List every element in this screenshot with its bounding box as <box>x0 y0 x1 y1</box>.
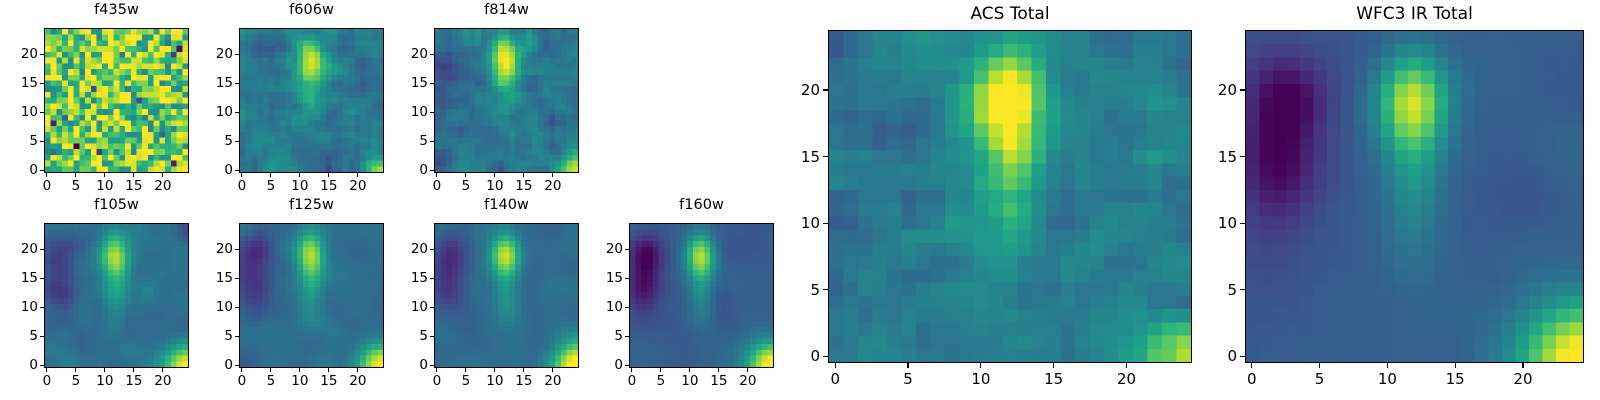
y-tick-label: 20 <box>21 46 38 62</box>
x-tick-mark <box>357 368 358 372</box>
heatmap-wfc3-ir-total <box>1245 30 1584 363</box>
panel-title-f606w: f606w <box>239 2 384 18</box>
y-tick-mark <box>823 289 828 290</box>
y-tick-label: 10 <box>411 299 428 315</box>
x-tick-label: 5 <box>1315 370 1325 388</box>
y-tick-mark <box>40 54 44 55</box>
y-tick-mark <box>625 278 629 279</box>
x-tick-mark <box>133 368 134 372</box>
x-tick-mark <box>747 368 748 372</box>
x-tick-label: 10 <box>486 178 503 194</box>
y-tick-mark <box>235 83 239 84</box>
y-tick-label: 5 <box>1227 281 1237 299</box>
panel-f606w: f606w0510152005101520 <box>199 2 384 199</box>
y-tick-mark <box>430 249 434 250</box>
y-tick-label: 5 <box>419 328 428 344</box>
y-tick-label: 0 <box>29 357 38 373</box>
x-tick-label: 10 <box>1378 370 1397 388</box>
y-tick-mark <box>235 170 239 171</box>
x-tick-mark <box>907 363 908 368</box>
heatmap-f105w <box>44 223 189 368</box>
y-tick-mark <box>430 112 434 113</box>
panel-title-f140w: f140w <box>434 197 579 213</box>
y-tick-mark <box>625 307 629 308</box>
x-tick-mark <box>299 368 300 372</box>
y-tick-mark <box>235 307 239 308</box>
y-tick-mark <box>40 83 44 84</box>
x-tick-label: 5 <box>657 373 666 389</box>
x-tick-label: 15 <box>125 373 142 389</box>
heatmap-canvas-f606w <box>240 29 383 172</box>
heatmap-f814w <box>434 28 579 173</box>
x-tick-mark <box>980 363 981 368</box>
y-tick-label: 0 <box>29 162 38 178</box>
heatmap-canvas-f105w <box>45 224 188 367</box>
x-tick-label: 0 <box>1247 370 1257 388</box>
y-tick-label: 15 <box>216 75 233 91</box>
panel-f435w: f435w0510152005101520 <box>4 2 189 199</box>
y-tick-mark <box>235 365 239 366</box>
x-tick-mark <box>1126 363 1127 368</box>
x-tick-mark <box>835 363 836 368</box>
x-tick-mark <box>46 368 47 372</box>
x-tick-label: 20 <box>544 178 561 194</box>
heatmap-canvas-f140w <box>435 224 578 367</box>
panel-f814w: f814w0510152005101520 <box>394 2 579 199</box>
y-tick-mark <box>40 307 44 308</box>
y-tick-label: 10 <box>801 214 820 232</box>
x-tick-label: 5 <box>72 373 81 389</box>
y-tick-mark <box>40 336 44 337</box>
x-tick-label: 0 <box>433 178 442 194</box>
x-tick-label: 20 <box>154 178 171 194</box>
panel-f125w: f125w0510152005101520 <box>199 197 384 394</box>
y-tick-label: 5 <box>224 133 233 149</box>
x-tick-mark <box>1455 363 1456 368</box>
y-tick-mark <box>235 249 239 250</box>
x-tick-label: 10 <box>291 178 308 194</box>
x-tick-mark <box>1387 363 1388 368</box>
y-tick-mark <box>430 141 434 142</box>
y-tick-label: 0 <box>1227 347 1237 365</box>
heatmap-canvas-f125w <box>240 224 383 367</box>
panel-title-f435w: f435w <box>44 2 189 18</box>
y-tick-label: 5 <box>419 133 428 149</box>
panel-title-wfc3-ir-total: WFC3 IR Total <box>1245 4 1584 24</box>
heatmap-canvas-f814w <box>435 29 578 172</box>
panel-title-f105w: f105w <box>44 197 189 213</box>
y-tick-mark <box>823 223 828 224</box>
x-tick-label: 0 <box>830 370 840 388</box>
y-tick-mark <box>1240 289 1245 290</box>
x-tick-mark <box>162 368 163 372</box>
y-tick-label: 20 <box>411 241 428 257</box>
y-tick-mark <box>235 278 239 279</box>
panel-f105w: f105w0510152005101520 <box>4 197 189 394</box>
y-tick-label: 15 <box>1218 148 1237 166</box>
x-tick-mark <box>133 173 134 177</box>
heatmap-canvas-f160w <box>630 224 773 367</box>
x-tick-label: 20 <box>1513 370 1532 388</box>
figure-canvas: f435w0510152005101520f606w05101520051015… <box>0 0 1600 400</box>
heatmap-canvas-f435w <box>45 29 188 172</box>
x-tick-label: 10 <box>96 178 113 194</box>
panel-title-f160w: f160w <box>629 197 774 213</box>
heatmap-f160w <box>629 223 774 368</box>
x-tick-mark <box>494 173 495 177</box>
panel-wfc3-ir-total: WFC3 IR Total0510152005101520 <box>1205 4 1584 389</box>
y-tick-label: 20 <box>216 46 233 62</box>
y-tick-mark <box>430 83 434 84</box>
y-tick-label: 15 <box>216 270 233 286</box>
x-tick-label: 20 <box>739 373 756 389</box>
x-tick-label: 15 <box>1044 370 1063 388</box>
y-tick-mark <box>1240 223 1245 224</box>
x-tick-mark <box>104 368 105 372</box>
x-tick-mark <box>494 368 495 372</box>
x-tick-label: 20 <box>544 373 561 389</box>
y-tick-label: 15 <box>801 148 820 166</box>
y-tick-label: 5 <box>29 328 38 344</box>
x-tick-label: 20 <box>349 373 366 389</box>
heatmap-f140w <box>434 223 579 368</box>
x-tick-label: 10 <box>971 370 990 388</box>
y-tick-mark <box>430 336 434 337</box>
heatmap-canvas-wfc3-ir-total <box>1246 31 1583 362</box>
y-tick-label: 5 <box>29 133 38 149</box>
x-tick-mark <box>465 368 466 372</box>
x-tick-mark <box>270 173 271 177</box>
y-tick-mark <box>40 112 44 113</box>
x-tick-label: 15 <box>320 373 337 389</box>
y-tick-label: 0 <box>224 162 233 178</box>
y-tick-mark <box>235 54 239 55</box>
x-tick-mark <box>328 368 329 372</box>
heatmap-f125w <box>239 223 384 368</box>
y-tick-mark <box>625 249 629 250</box>
y-tick-label: 15 <box>606 270 623 286</box>
y-tick-label: 5 <box>224 328 233 344</box>
y-tick-mark <box>823 89 828 90</box>
x-tick-mark <box>465 173 466 177</box>
heatmap-f435w <box>44 28 189 173</box>
panel-title-f814w: f814w <box>434 2 579 18</box>
y-tick-mark <box>40 141 44 142</box>
panel-title-acs-total: ACS Total <box>828 4 1192 24</box>
y-tick-mark <box>40 170 44 171</box>
x-tick-label: 20 <box>154 373 171 389</box>
y-tick-label: 20 <box>1218 81 1237 99</box>
x-tick-mark <box>552 173 553 177</box>
x-tick-label: 0 <box>238 178 247 194</box>
y-tick-label: 0 <box>810 347 820 365</box>
y-tick-mark <box>235 336 239 337</box>
y-tick-mark <box>823 156 828 157</box>
y-tick-label: 15 <box>411 270 428 286</box>
x-tick-label: 0 <box>238 373 247 389</box>
y-tick-label: 10 <box>216 104 233 120</box>
y-tick-label: 10 <box>21 104 38 120</box>
y-tick-mark <box>235 112 239 113</box>
x-tick-label: 15 <box>710 373 727 389</box>
x-tick-label: 15 <box>515 373 532 389</box>
x-tick-label: 20 <box>1117 370 1136 388</box>
x-tick-mark <box>75 173 76 177</box>
panel-acs-total: ACS Total0510152005101520 <box>788 4 1192 389</box>
y-tick-mark <box>430 170 434 171</box>
y-tick-mark <box>430 307 434 308</box>
x-tick-label: 5 <box>267 178 276 194</box>
y-tick-mark <box>1240 356 1245 357</box>
x-tick-mark <box>523 173 524 177</box>
y-tick-label: 5 <box>810 281 820 299</box>
panel-f140w: f140w0510152005101520 <box>394 197 579 394</box>
x-tick-mark <box>75 368 76 372</box>
heatmap-f606w <box>239 28 384 173</box>
y-tick-label: 15 <box>21 270 38 286</box>
y-tick-label: 0 <box>419 162 428 178</box>
y-tick-mark <box>430 54 434 55</box>
y-tick-label: 0 <box>614 357 623 373</box>
y-tick-label: 10 <box>1218 214 1237 232</box>
x-tick-mark <box>436 368 437 372</box>
x-tick-mark <box>1522 363 1523 368</box>
y-tick-label: 15 <box>21 75 38 91</box>
y-tick-label: 20 <box>411 46 428 62</box>
x-tick-mark <box>162 173 163 177</box>
y-tick-mark <box>823 356 828 357</box>
y-tick-label: 10 <box>411 104 428 120</box>
x-tick-label: 15 <box>515 178 532 194</box>
x-tick-mark <box>1319 363 1320 368</box>
y-tick-mark <box>40 278 44 279</box>
x-tick-label: 10 <box>486 373 503 389</box>
x-tick-label: 5 <box>267 373 276 389</box>
x-tick-mark <box>270 368 271 372</box>
x-tick-label: 5 <box>903 370 913 388</box>
y-tick-label: 20 <box>606 241 623 257</box>
y-tick-label: 10 <box>606 299 623 315</box>
x-tick-label: 5 <box>72 178 81 194</box>
y-tick-mark <box>235 141 239 142</box>
x-tick-mark <box>436 173 437 177</box>
y-tick-label: 0 <box>419 357 428 373</box>
x-tick-mark <box>523 368 524 372</box>
x-tick-mark <box>104 173 105 177</box>
x-tick-mark <box>631 368 632 372</box>
x-tick-label: 5 <box>462 178 471 194</box>
x-tick-mark <box>660 368 661 372</box>
y-tick-label: 15 <box>411 75 428 91</box>
x-tick-label: 20 <box>349 178 366 194</box>
x-tick-label: 0 <box>43 178 52 194</box>
x-tick-mark <box>689 368 690 372</box>
y-tick-mark <box>40 249 44 250</box>
x-tick-mark <box>1251 363 1252 368</box>
y-tick-label: 10 <box>21 299 38 315</box>
x-tick-label: 5 <box>462 373 471 389</box>
x-tick-mark <box>46 173 47 177</box>
x-tick-label: 15 <box>125 178 142 194</box>
x-tick-label: 0 <box>628 373 637 389</box>
heatmap-canvas-acs-total <box>829 31 1191 362</box>
y-tick-label: 20 <box>21 241 38 257</box>
x-tick-label: 15 <box>1446 370 1465 388</box>
y-tick-mark <box>430 278 434 279</box>
y-tick-mark <box>430 365 434 366</box>
x-tick-mark <box>552 368 553 372</box>
x-tick-mark <box>241 173 242 177</box>
x-tick-label: 10 <box>291 373 308 389</box>
x-tick-mark <box>241 368 242 372</box>
x-tick-label: 10 <box>681 373 698 389</box>
x-tick-mark <box>299 173 300 177</box>
y-tick-mark <box>625 365 629 366</box>
x-tick-mark <box>718 368 719 372</box>
x-tick-label: 0 <box>43 373 52 389</box>
y-tick-label: 20 <box>801 81 820 99</box>
x-tick-label: 0 <box>433 373 442 389</box>
x-tick-label: 10 <box>96 373 113 389</box>
y-tick-label: 10 <box>216 299 233 315</box>
x-tick-label: 15 <box>320 178 337 194</box>
y-tick-mark <box>625 336 629 337</box>
x-tick-mark <box>1053 363 1054 368</box>
heatmap-acs-total <box>828 30 1192 363</box>
y-tick-label: 5 <box>614 328 623 344</box>
y-tick-label: 20 <box>216 241 233 257</box>
x-tick-mark <box>357 173 358 177</box>
y-tick-label: 0 <box>224 357 233 373</box>
y-tick-mark <box>1240 156 1245 157</box>
y-tick-mark <box>1240 89 1245 90</box>
panel-title-f125w: f125w <box>239 197 384 213</box>
x-tick-mark <box>328 173 329 177</box>
panel-f160w: f160w0510152005101520 <box>589 197 774 394</box>
y-tick-mark <box>40 365 44 366</box>
